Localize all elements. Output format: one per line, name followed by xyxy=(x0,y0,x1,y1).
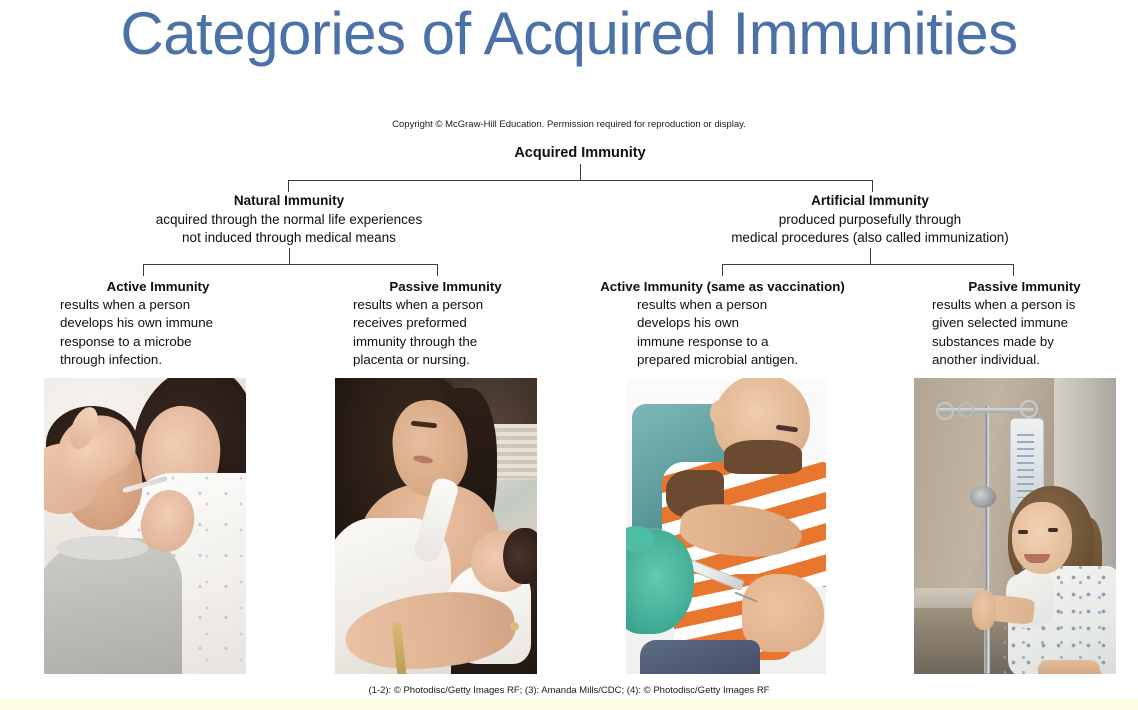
leaf-title: Active Immunity (same as vaccination) xyxy=(575,278,870,296)
mother-taking-childs-temperature-photo xyxy=(44,378,246,674)
flowchart-leaf-artificial-passive: Passive Immunity results when a person i… xyxy=(932,278,1117,369)
child-shirt-collar xyxy=(56,536,148,560)
connector-to-leaf-4 xyxy=(1013,264,1014,276)
leaf-description: results when a personreceives preformedi… xyxy=(353,296,538,369)
nursing-mother-and-infant-photo xyxy=(335,378,537,674)
connector-to-leaf-1 xyxy=(143,264,144,276)
connector-to-leaf-3 xyxy=(722,264,723,276)
girl-hand-gripping-pole xyxy=(972,590,996,630)
girl-eye xyxy=(1048,528,1058,532)
infant-hair xyxy=(503,528,537,584)
flowchart-leaf-artificial-active: Active Immunity (same as vaccination) re… xyxy=(575,278,870,369)
connector-artificial-bar xyxy=(722,264,1014,265)
flowchart-node-acquired-immunity: Acquired Immunity xyxy=(380,144,780,163)
connector-to-natural xyxy=(288,180,289,192)
infant-ear xyxy=(710,400,730,426)
girl-with-iv-stand-photo xyxy=(914,378,1116,674)
iv-pole xyxy=(984,406,990,674)
connector-root-stem xyxy=(580,164,581,180)
connector-to-artificial xyxy=(872,180,873,192)
leaf-description: results when a person isgiven selected i… xyxy=(932,296,1117,369)
infant-receiving-injection-photo xyxy=(626,378,826,674)
iv-pole-adjustment-knob xyxy=(970,486,996,508)
iv-hook xyxy=(958,402,974,418)
leaf-description: results when a persondevelops his own im… xyxy=(60,296,250,369)
iv-hook xyxy=(1020,400,1038,418)
acquired-immunity-flowchart: Copyright © McGraw-Hill Education. Permi… xyxy=(0,118,1138,698)
leaf-title: Passive Immunity xyxy=(353,278,538,296)
flowchart-leaf-natural-active: Active Immunity results when a persondev… xyxy=(60,278,250,369)
flowchart-node-artificial-immunity: Artificial Immunity produced purposefull… xyxy=(722,192,1018,248)
connector-natural-bar xyxy=(143,264,438,265)
leaf-title: Passive Immunity xyxy=(932,278,1117,296)
shirt-collar xyxy=(724,440,802,474)
page-title: Categories of Acquired Immunities xyxy=(0,0,1138,72)
girl-legs xyxy=(1038,660,1100,674)
caregiver-jeans xyxy=(640,640,760,674)
leaf-description: results when a persondevelops his ownimm… xyxy=(575,296,870,369)
photo-credit-line: (1-2): © Photodisc/Getty Images RF; (3):… xyxy=(0,684,1138,697)
leaf-title: Active Immunity xyxy=(60,278,250,296)
copyright-notice: Copyright © McGraw-Hill Education. Permi… xyxy=(0,118,1138,131)
wedding-ring xyxy=(510,622,519,631)
connector-natural-stem xyxy=(289,248,290,264)
node-title: Acquired Immunity xyxy=(380,144,780,163)
girl-face xyxy=(1012,502,1072,574)
node-title: Artificial Immunity xyxy=(722,192,1018,211)
iv-bag-label xyxy=(1017,434,1034,498)
node-description: produced purposefully throughmedical pro… xyxy=(722,211,1018,248)
iv-hook xyxy=(936,402,954,420)
girl-eye xyxy=(1018,530,1028,534)
bottom-accent-band xyxy=(0,698,1138,710)
connector-level1-bar xyxy=(288,180,873,181)
node-description: acquired through the normal life experie… xyxy=(139,211,439,248)
connector-to-leaf-2 xyxy=(437,264,438,276)
flowchart-node-natural-immunity: Natural Immunity acquired through the no… xyxy=(139,192,439,248)
flowchart-leaf-natural-passive: Passive Immunity results when a personre… xyxy=(353,278,538,369)
connector-artificial-stem xyxy=(870,248,871,264)
node-title: Natural Immunity xyxy=(139,192,439,211)
